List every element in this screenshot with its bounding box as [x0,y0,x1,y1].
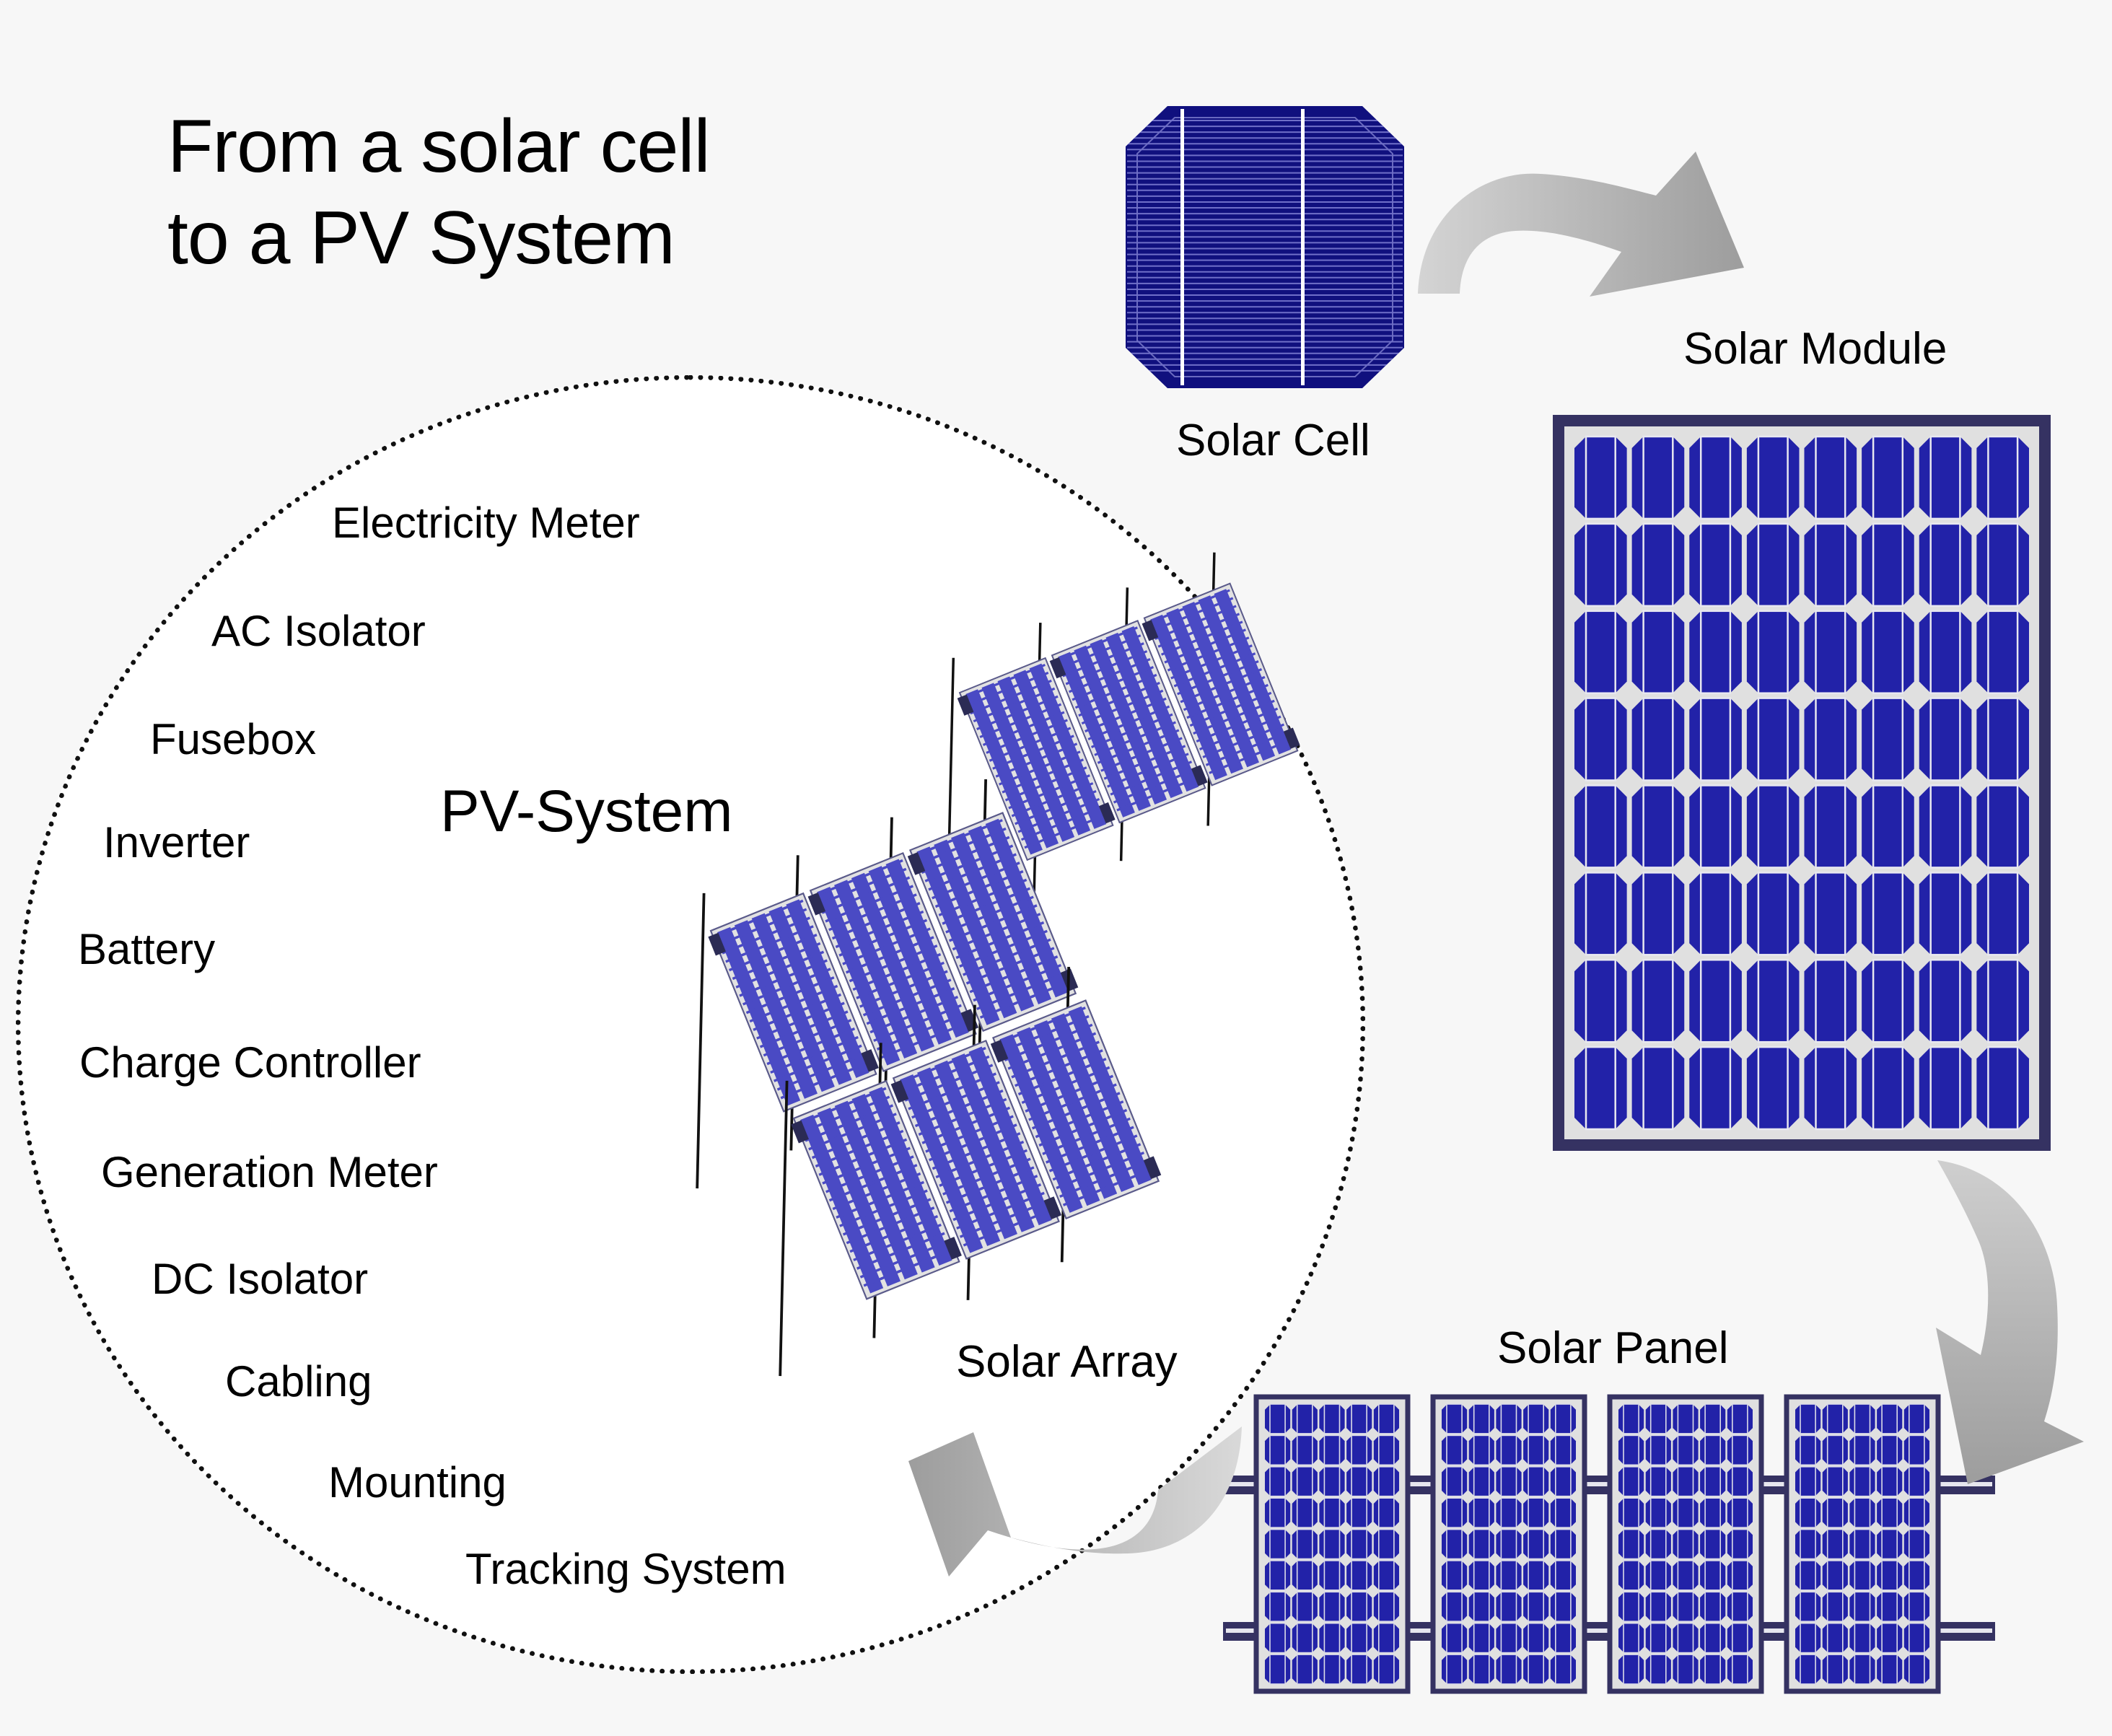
component-cabling: Cabling [225,1356,372,1406]
arrow-right-icon [1396,126,1771,343]
component-tracking-system: Tracking System [465,1544,786,1594]
solar-module-graphic [1553,415,2051,1151]
component-electricity-meter: Electricity Meter [332,498,640,548]
diagram-canvas: From a solar cell to a PV System PV-Syst… [0,0,2112,1736]
solar-panel-graphic [1252,1393,1966,1696]
component-dc-isolator: DC Isolator [152,1254,368,1304]
page-title: From a solar cell to a PV System [167,101,710,284]
component-fusebox: Fusebox [150,714,316,764]
component-charge-controller: Charge Controller [79,1038,421,1087]
component-generation-meter: Generation Meter [101,1147,438,1197]
arrow-down-icon [1865,1133,2112,1501]
component-battery: Battery [78,924,215,974]
component-mounting: Mounting [328,1457,507,1507]
solar-panel-label: Solar Panel [1497,1323,1729,1374]
component-ac-isolator: AC Isolator [211,606,426,656]
solar-array-label: Solar Array [956,1336,1178,1388]
solar-cell-label: Solar Cell [1176,415,1370,466]
solar-cell-graphic [1124,105,1406,390]
arrow-left-icon [898,1403,1274,1620]
component-inverter: Inverter [103,817,250,867]
